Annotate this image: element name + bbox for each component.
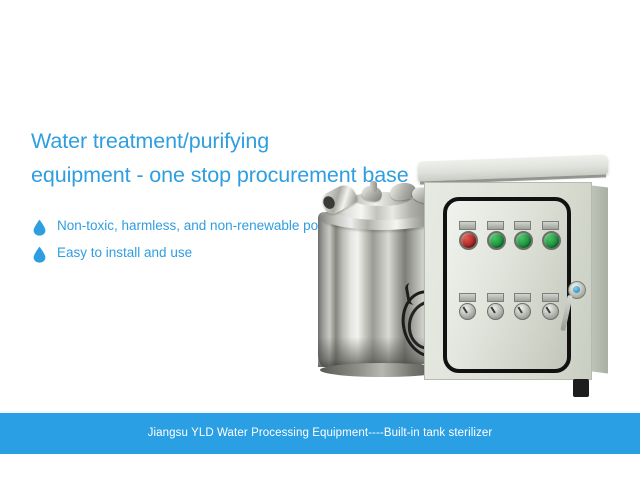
indicator-light-4[interactable] xyxy=(542,221,559,250)
control-knob-2[interactable] xyxy=(487,293,504,320)
rotary-knob-icon xyxy=(542,303,559,320)
electrical-control-cabinet xyxy=(418,158,608,380)
list-item-label: Easy to install and use xyxy=(57,245,192,260)
knob-label-plate xyxy=(514,293,531,302)
rotary-knob-icon xyxy=(459,303,476,320)
tank-pressure-knob xyxy=(370,181,377,192)
headline-line-1: Water treatment/purifying xyxy=(31,129,269,153)
knob-label-plate xyxy=(542,293,559,302)
indicator-light-row xyxy=(459,221,559,250)
knob-label-plate xyxy=(459,293,476,302)
caption-banner: Jiangsu YLD Water Processing Equipment--… xyxy=(0,411,640,454)
indicator-label-plate xyxy=(514,221,531,230)
caption-text: Jiangsu YLD Water Processing Equipment--… xyxy=(0,413,640,454)
indicator-label-plate xyxy=(487,221,504,230)
indicator-light-3[interactable] xyxy=(514,221,531,250)
cabinet-base-foot xyxy=(573,379,589,397)
cabinet-body xyxy=(424,182,592,380)
indicator-lamp-green-icon xyxy=(542,231,561,250)
indicator-label-plate xyxy=(459,221,476,230)
indicator-light-2[interactable] xyxy=(487,221,504,250)
control-knob-row xyxy=(459,293,559,320)
indicator-light-1[interactable] xyxy=(459,221,476,250)
indicator-lamp-red-icon xyxy=(459,231,478,250)
control-knob-1[interactable] xyxy=(459,293,476,320)
cabinet-door xyxy=(443,197,571,373)
control-knob-4[interactable] xyxy=(542,293,559,320)
water-drop-icon xyxy=(33,219,46,236)
rotary-knob-icon xyxy=(487,303,504,320)
product-slide: Water treatment/purifying equipment - on… xyxy=(0,0,640,480)
indicator-lamp-green-icon xyxy=(514,231,533,250)
rotary-knob-icon xyxy=(514,303,531,320)
control-knob-3[interactable] xyxy=(514,293,531,320)
water-drop-icon xyxy=(33,246,46,263)
indicator-lamp-green-icon xyxy=(487,231,506,250)
indicator-label-plate xyxy=(542,221,559,230)
product-photo xyxy=(300,140,620,385)
knob-label-plate xyxy=(487,293,504,302)
